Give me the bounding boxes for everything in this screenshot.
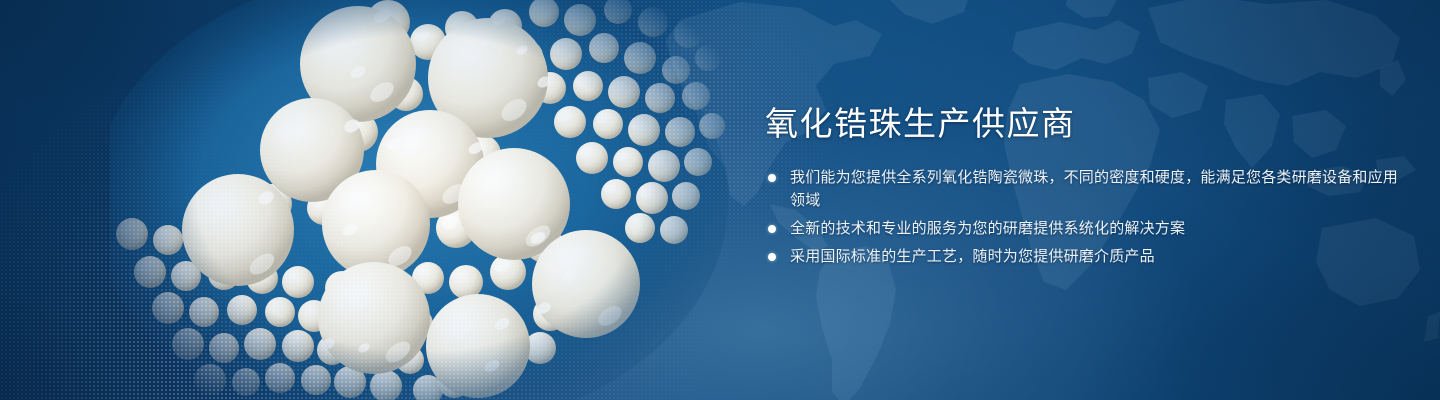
feature-list-item: 全新的技术和专业的服务为您的研磨提供系统化的解决方案: [765, 217, 1405, 240]
bullet-dot-icon: [768, 225, 776, 233]
banner-feature-list: 我们能为您提供全系列氧化锆陶瓷微珠，不同的密度和硬度，能满足您各类研磨设备和应用…: [765, 166, 1405, 268]
feature-text: 全新的技术和专业的服务为您的研磨提供系统化的解决方案: [790, 220, 1185, 237]
bullet-dot-icon: [768, 174, 776, 182]
hero-banner: 氧化锆珠生产供应商 我们能为您提供全系列氧化锆陶瓷微珠，不同的密度和硬度，能满足…: [0, 0, 1440, 400]
banner-text-block: 氧化锆珠生产供应商 我们能为您提供全系列氧化锆陶瓷微珠，不同的密度和硬度，能满足…: [765, 104, 1405, 268]
bullet-dot-icon: [768, 253, 776, 261]
feature-list-item: 我们能为您提供全系列氧化锆陶瓷微珠，不同的密度和硬度，能满足您各类研磨设备和应用…: [765, 166, 1405, 212]
feature-text: 我们能为您提供全系列氧化锆陶瓷微珠，不同的密度和硬度，能满足您各类研磨设备和应用…: [790, 169, 1398, 209]
banner-headline: 氧化锆珠生产供应商: [765, 104, 1405, 144]
feature-list-item: 采用国际标准的生产工艺，随时为您提供研磨介质产品: [765, 245, 1405, 268]
feature-text: 采用国际标准的生产工艺，随时为您提供研磨介质产品: [790, 248, 1155, 265]
